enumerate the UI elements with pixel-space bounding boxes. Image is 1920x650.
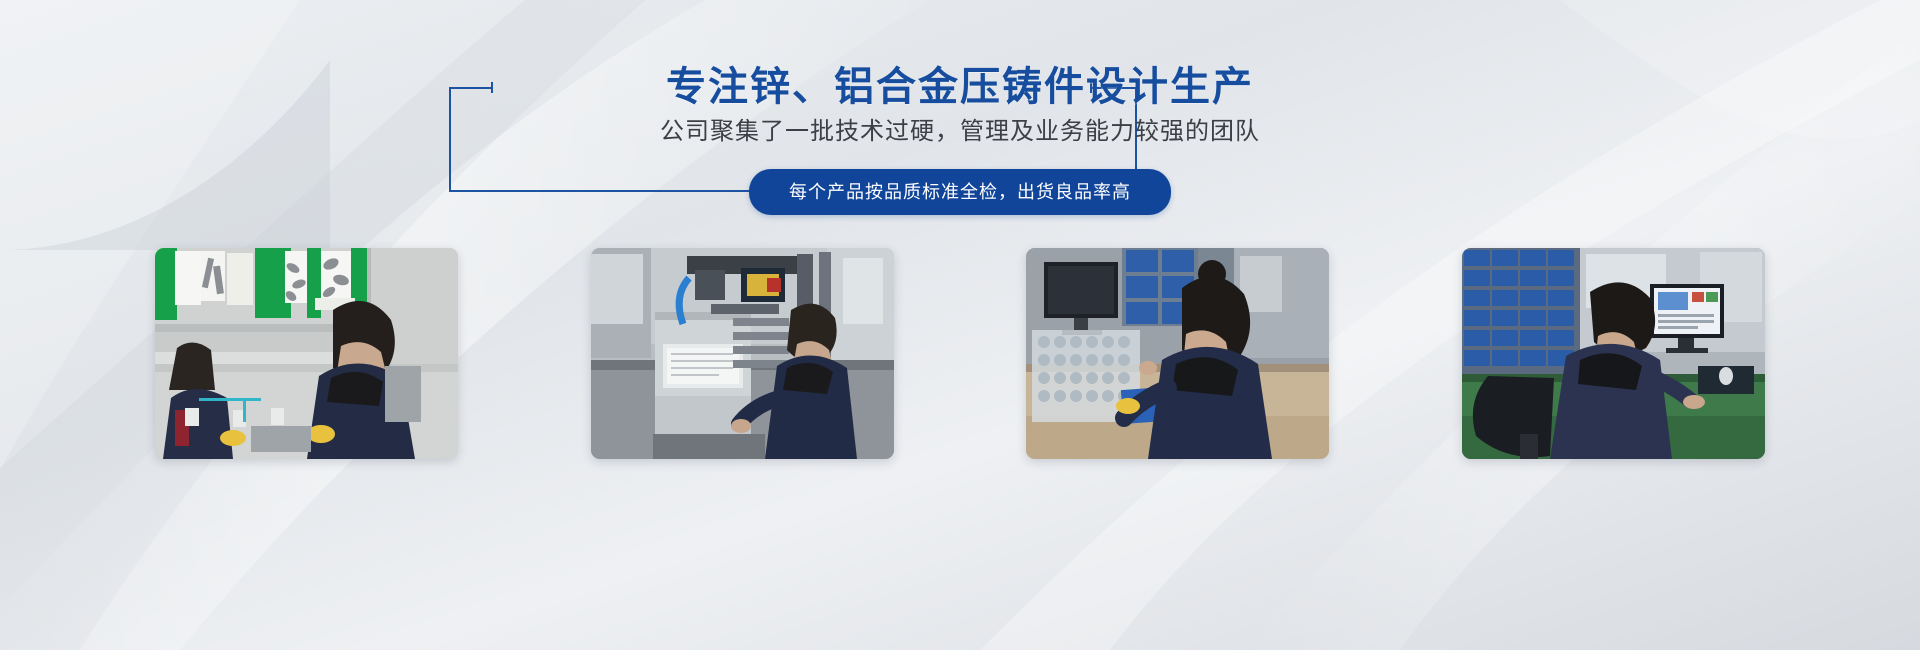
- photo-workers-inspecting-parts-at-bench[interactable]: [155, 248, 458, 459]
- photo-gallery: [155, 248, 1765, 459]
- hero-banner: 专注锌、铝合金压铸件设计生产 公司聚集了一批技术过硬，管理及业务能力较强的团队 …: [0, 0, 1920, 650]
- photo-staff-at-computer-workstation[interactable]: [1462, 248, 1765, 459]
- photo-worker-packing-parts-at-desk[interactable]: [1026, 248, 1329, 459]
- photo-operator-at-die-casting-machine[interactable]: [591, 248, 894, 459]
- quality-badge[interactable]: 每个产品按品质标准全检，出货良品率高: [749, 169, 1171, 215]
- headline-block: 专注锌、铝合金压铸件设计生产 公司聚集了一批技术过硬，管理及业务能力较强的团队 …: [0, 0, 1920, 230]
- page-title: 专注锌、铝合金压铸件设计生产: [0, 60, 1920, 114]
- page-subtitle: 公司聚集了一批技术过硬，管理及业务能力较强的团队: [0, 115, 1920, 149]
